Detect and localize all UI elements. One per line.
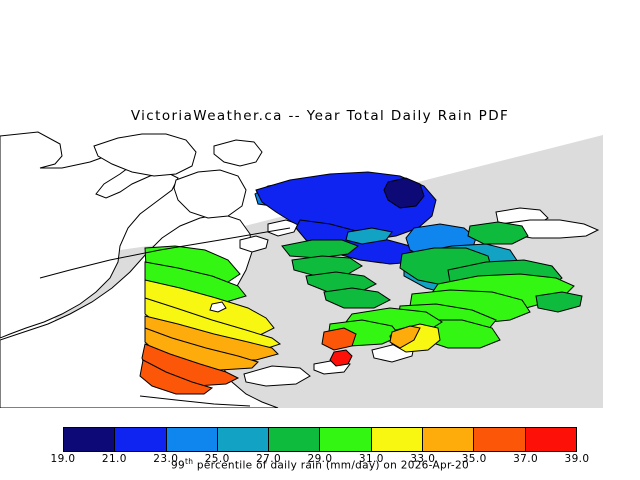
caption-prefix: 99 bbox=[171, 460, 185, 472]
colorbar-caption: 99th percentile of daily rain (mm/day) o… bbox=[0, 457, 640, 472]
colorbar-band-4 bbox=[269, 428, 320, 451]
page-title: VictoriaWeather.ca -- Year Total Daily R… bbox=[0, 108, 640, 124]
region-small-island-orange bbox=[322, 328, 356, 350]
colorbar-band-3 bbox=[218, 428, 269, 451]
colorbar-bands bbox=[63, 427, 577, 452]
region-east-dark-green-c bbox=[468, 222, 528, 244]
colorbar-band-2 bbox=[167, 428, 218, 451]
colorbar-band-7 bbox=[423, 428, 474, 451]
colorbar-band-1 bbox=[115, 428, 166, 451]
nw-island-b bbox=[174, 170, 246, 218]
colorbar-band-9 bbox=[526, 428, 576, 451]
region-small-island-red bbox=[330, 350, 352, 366]
colorbar-band-8 bbox=[474, 428, 525, 451]
colorbar-band-5 bbox=[320, 428, 371, 451]
weather-map-page: VictoriaWeather.ca -- Year Total Daily R… bbox=[0, 0, 640, 480]
map-panel bbox=[0, 128, 640, 408]
caption-rest: percentile of daily rain (mm/day) on 202… bbox=[193, 460, 469, 472]
rainfall-choropleth-map bbox=[0, 128, 640, 408]
colorbar-band-6 bbox=[372, 428, 423, 451]
colorbar-band-0 bbox=[64, 428, 115, 451]
nw-island-c bbox=[214, 140, 262, 166]
